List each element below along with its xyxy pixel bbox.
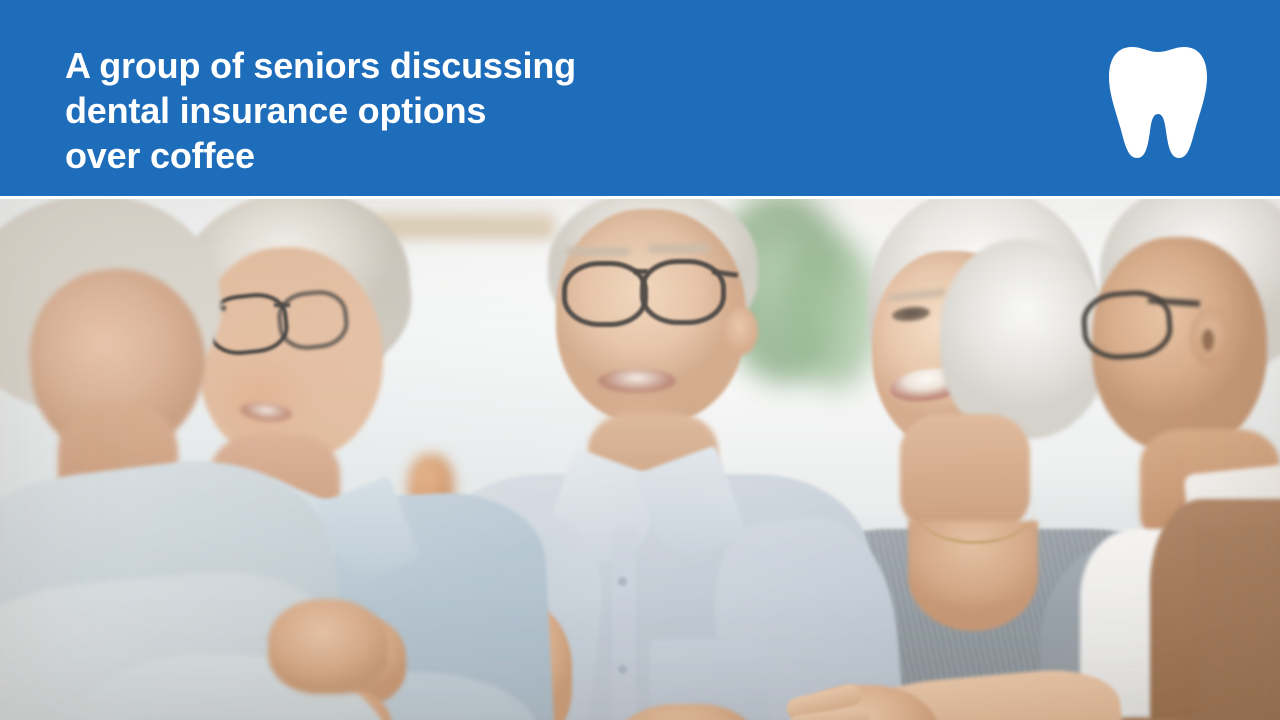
person-center-glasses-bridge xyxy=(634,269,648,274)
person-center-brow-right xyxy=(648,244,710,253)
person-center-button-lower xyxy=(618,665,627,674)
header-banner: A group of seniors discussing dental ins… xyxy=(0,0,1280,196)
person-far-right-cardigan-fold xyxy=(1196,529,1280,720)
page-title: A group of seniors discussing dental ins… xyxy=(65,43,965,178)
background-plant-secondary xyxy=(790,239,880,389)
page-root: A group of seniors discussing dental ins… xyxy=(0,0,1280,720)
person-center-button xyxy=(618,577,627,586)
person-right-necklace xyxy=(915,475,1035,544)
person-far-left-hand xyxy=(268,599,388,694)
person-far-right-ear-inner xyxy=(1202,329,1214,351)
hero-photo xyxy=(0,199,1280,720)
person-center-ear xyxy=(724,307,758,355)
person-center-brow-left xyxy=(566,247,630,256)
tooth-icon xyxy=(1108,46,1208,160)
person-center-placket xyxy=(612,529,636,720)
person-left-glasses-bridge xyxy=(274,303,290,307)
